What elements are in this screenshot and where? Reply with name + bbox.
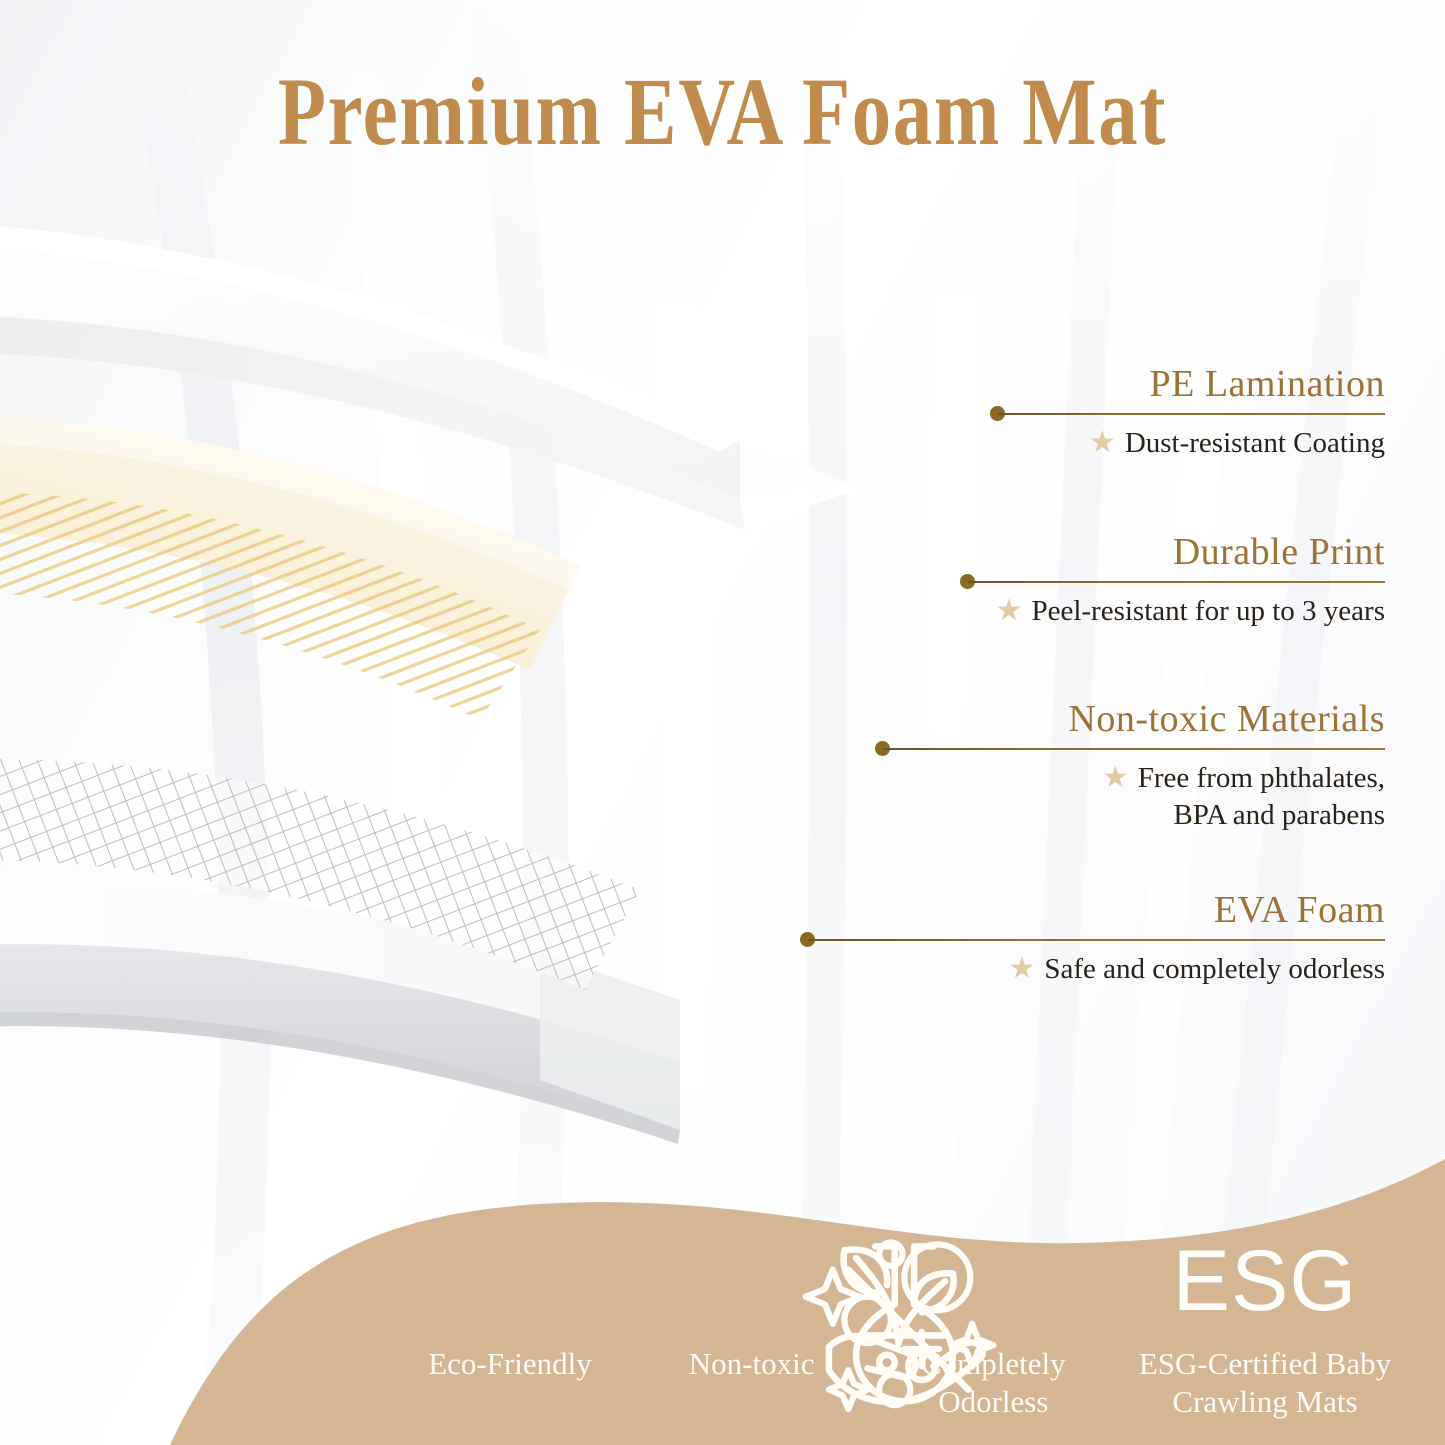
callout-heading: Non-toxic Materials bbox=[875, 697, 1385, 741]
callout-durable-print: Durable Print ★Peel-resistant for up to … bbox=[960, 530, 1385, 630]
star-icon: ★ bbox=[996, 594, 1023, 627]
callout-line bbox=[998, 413, 1385, 415]
callout-subs: ★Peel-resistant for up to 3 years bbox=[960, 592, 1385, 630]
callout-eva-foam: EVA Foam ★Safe and completely odorless bbox=[800, 888, 1385, 988]
page-title: Premium EVA Foam Mat bbox=[130, 62, 1315, 163]
star-icon: ★ bbox=[1102, 761, 1129, 794]
product-layers-illustration bbox=[0, 200, 960, 1210]
callout-sub: ★Safe and completely odorless bbox=[800, 950, 1385, 988]
feature-badge-panel: Eco-Friendly Non-toxic bbox=[0, 1115, 1445, 1445]
infographic-canvas: Premium EVA Foam Mat bbox=[0, 0, 1445, 1445]
callout-rule bbox=[990, 412, 1385, 415]
callout-subs: ★Safe and completely odorless bbox=[800, 950, 1385, 988]
callout-sub: ★Dust-resistant Coating bbox=[990, 424, 1385, 462]
callout-line bbox=[808, 939, 1385, 941]
callout-non-toxic-materials: Non-toxic Materials ★Free from phthalate… bbox=[875, 697, 1385, 835]
badge-completely-odorless: Completely Odorless bbox=[873, 1227, 1113, 1421]
callout-heading: EVA Foam bbox=[800, 888, 1385, 932]
callout-sub: ★Peel-resistant for up to 3 years bbox=[960, 592, 1385, 630]
callout-heading: Durable Print bbox=[960, 530, 1385, 574]
callout-sub: ★Free from phthalates, bbox=[875, 759, 1385, 797]
callout-rule bbox=[960, 580, 1385, 583]
callout-subs: ★Free from phthalates, BPA and parabens bbox=[875, 759, 1385, 835]
callout-line bbox=[968, 581, 1385, 583]
callout-heading: PE Lamination bbox=[990, 362, 1385, 406]
callout-subs: ★Dust-resistant Coating bbox=[990, 424, 1385, 462]
star-icon: ★ bbox=[1089, 426, 1116, 459]
callout-sub: BPA and parabens bbox=[875, 797, 1385, 834]
callout-rule bbox=[875, 747, 1385, 750]
star-icon: ★ bbox=[1008, 952, 1035, 985]
badge-row: Eco-Friendly Non-toxic bbox=[390, 1227, 1415, 1421]
callout-line bbox=[883, 748, 1385, 750]
callout-pe-lamination: PE Lamination ★Dust-resistant Coating bbox=[990, 362, 1385, 462]
callout-rule bbox=[800, 938, 1385, 941]
